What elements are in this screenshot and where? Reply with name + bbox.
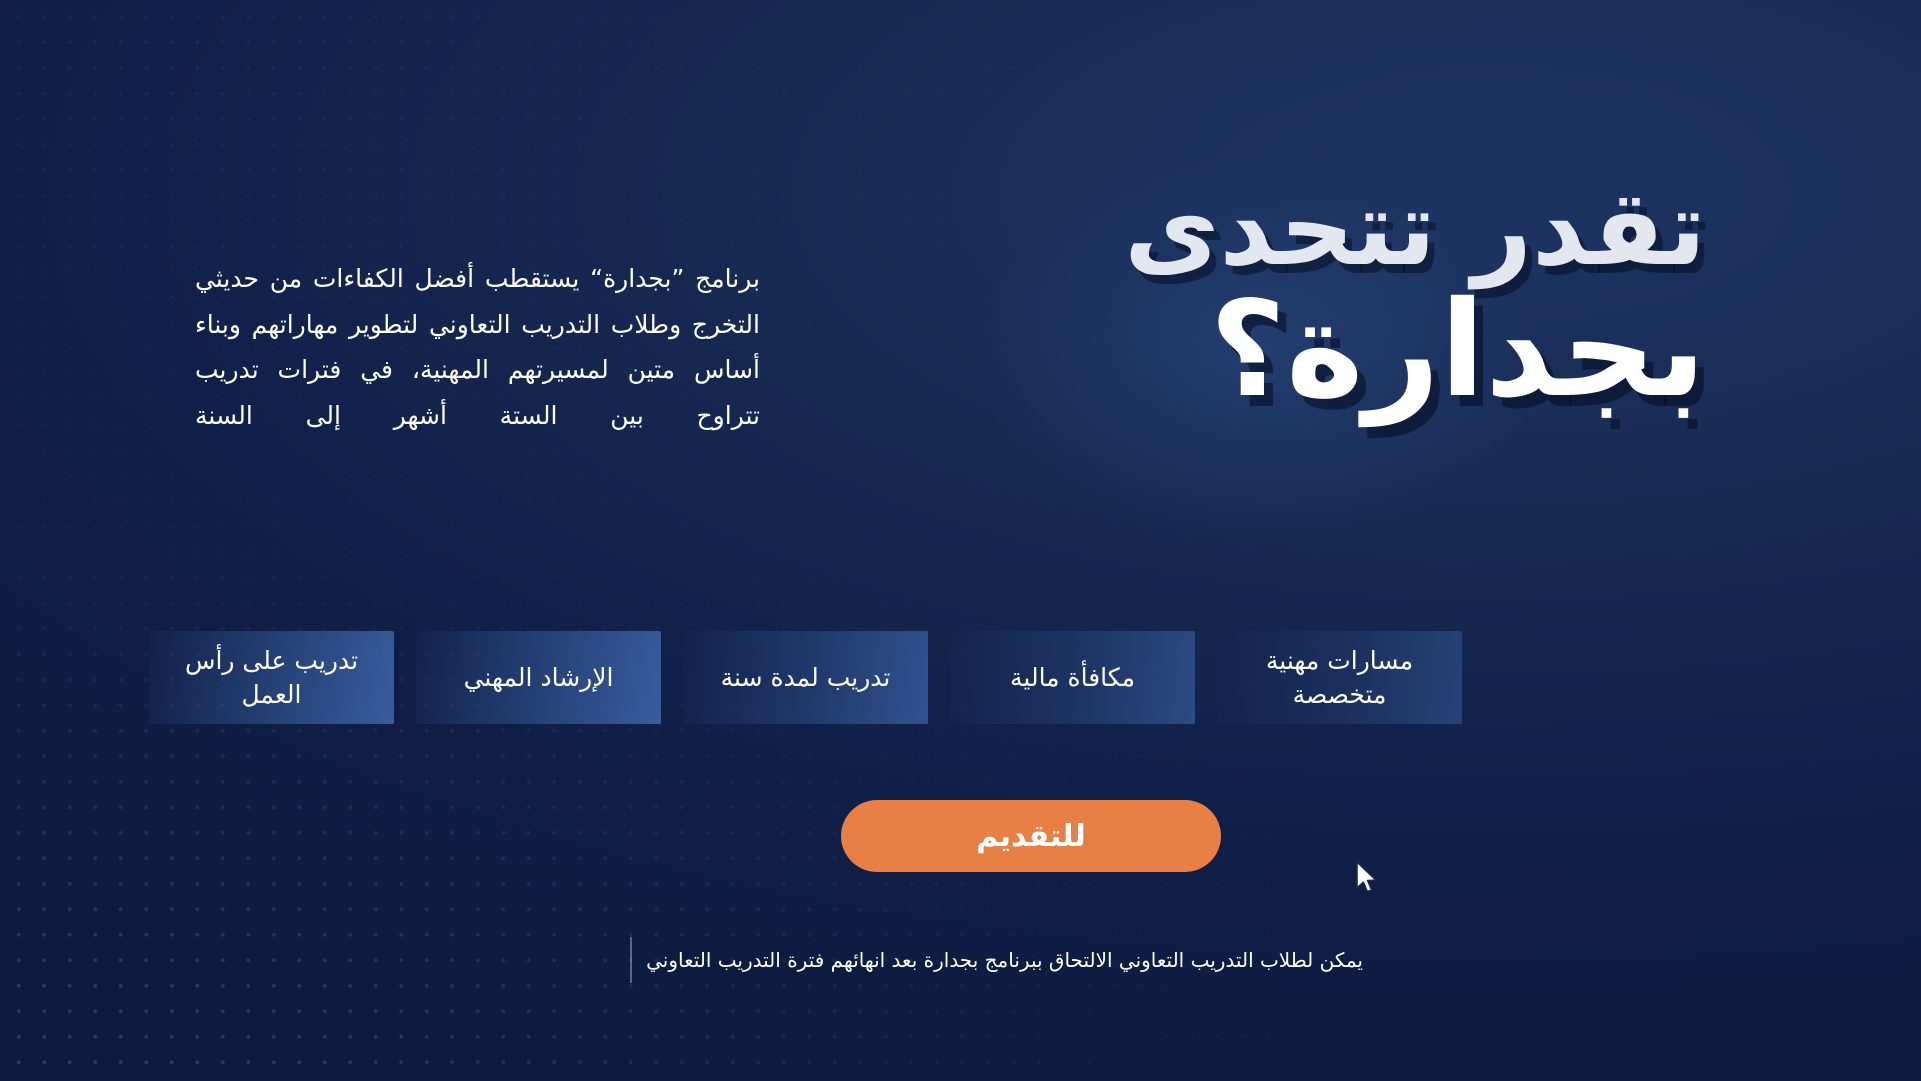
feature-card-label: تدريب على رأس العمل <box>163 644 380 712</box>
headline-line-2: بجدارة؟ <box>1124 284 1706 416</box>
feature-card-label: مكافأة مالية <box>1010 661 1135 695</box>
feature-card-one-year-training: تدريب لمدة سنة <box>683 631 928 724</box>
footnote-block: يمكن لطلاب التدريب التعاوني الالتحاق ببر… <box>630 937 1363 983</box>
feature-card-label: تدريب لمدة سنة <box>721 661 891 695</box>
feature-card-specialized-career-paths: مسارات مهنية متخصصة <box>1217 631 1462 724</box>
feature-card-list: مسارات مهنية متخصصة مكافأة مالية تدريب ل… <box>149 631 1462 724</box>
dot-grid-pattern-secondary <box>0 0 1921 1081</box>
intro-paragraph: برنامج ”بجدارة“ يستقطب أفضل الكفاءات من … <box>195 256 760 438</box>
feature-card-career-guidance: الإرشاد المهني <box>416 631 661 724</box>
feature-card-label: مسارات مهنية متخصصة <box>1231 644 1448 712</box>
page-title: تقدر تتحدى بجدارة؟ <box>1124 176 1706 416</box>
footnote-divider <box>630 937 632 983</box>
footnote-text: يمكن لطلاب التدريب التعاوني الالتحاق ببر… <box>646 946 1363 974</box>
apply-button[interactable]: للتقديم <box>841 800 1221 872</box>
mouse-cursor-icon <box>1355 861 1381 895</box>
hero-stage: تقدر تتحدى بجدارة؟ برنامج ”بجدارة“ يستقط… <box>0 0 1921 1081</box>
feature-card-on-the-job-training: تدريب على رأس العمل <box>149 631 394 724</box>
feature-card-financial-reward: مكافأة مالية <box>950 631 1195 724</box>
dot-grid-pattern <box>0 0 1921 1081</box>
feature-card-label: الإرشاد المهني <box>464 661 614 695</box>
headline-line-1: تقدر تتحدى <box>1124 176 1706 280</box>
